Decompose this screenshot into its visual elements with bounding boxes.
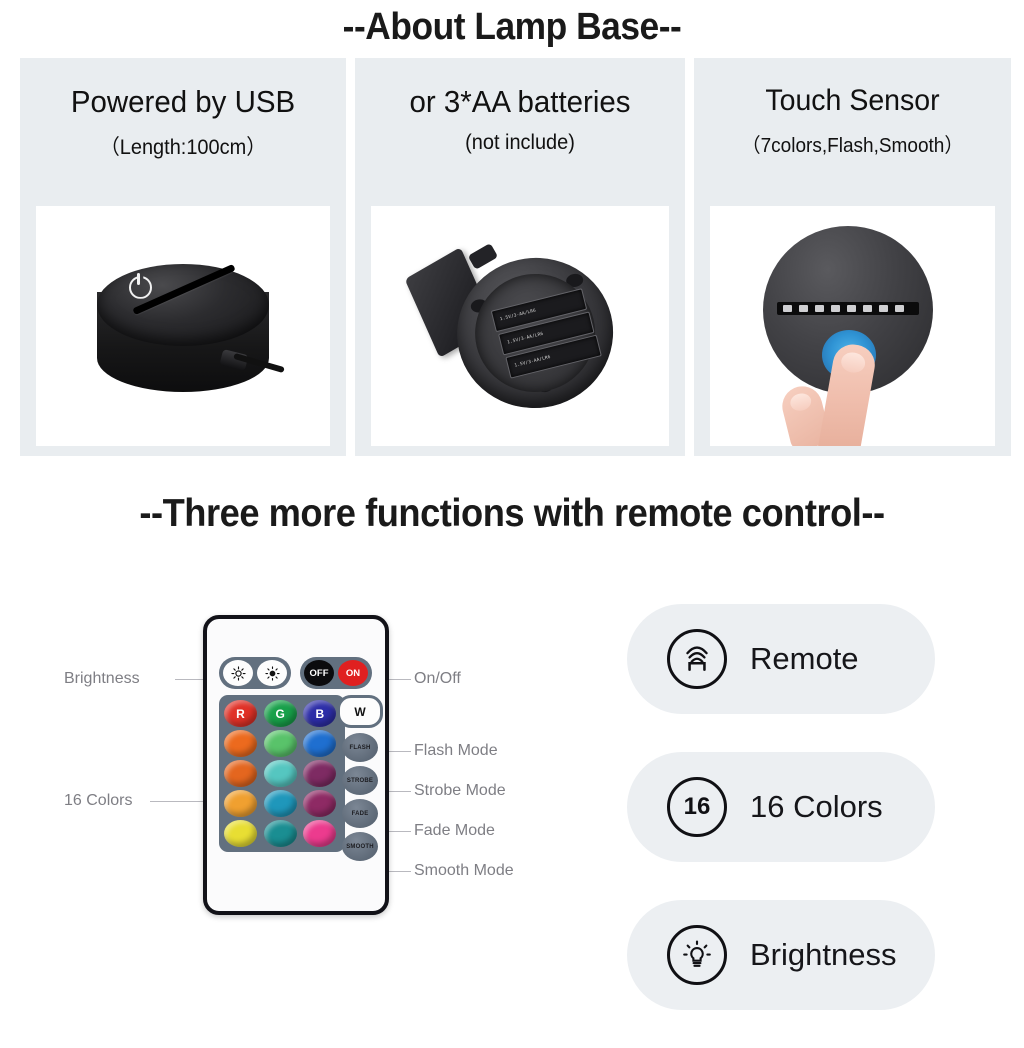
panel-title: Powered by USB (28, 84, 338, 120)
color-button-orange[interactable] (224, 730, 257, 757)
leader-line-on-off (389, 679, 411, 680)
brightness-bulb-glyph (680, 938, 714, 972)
callout-flash-mode: Flash Mode (414, 742, 498, 760)
color-button-blue[interactable]: B (303, 700, 336, 727)
page-title-about-lamp-base: --About Lamp Base-- (36, 6, 988, 49)
color-button-cyanblue[interactable] (264, 790, 297, 817)
panel-title: or 3*AA batteries (363, 84, 677, 120)
callout-smooth-mode: Smooth Mode (414, 862, 514, 880)
touch-base-illustration (763, 226, 943, 406)
led-chip (895, 305, 904, 312)
feature-label: Remote (750, 641, 859, 677)
feature-pill-list: Remote 16 16 Colors (627, 604, 937, 1048)
leader-line-16-colors (150, 801, 208, 802)
color-button-red[interactable]: R (224, 700, 257, 727)
lamp-base-usb-illustration (83, 256, 283, 406)
led-chip (847, 305, 856, 312)
leader-line-fade (389, 831, 411, 832)
brightness-up-icon (231, 666, 246, 681)
color-button-turquoise[interactable] (264, 760, 297, 787)
color-button-purple[interactable] (303, 760, 336, 787)
led-chip (863, 305, 872, 312)
battery-compartment-photo: 1.5V/3-AA/LR6 1.5V/3-AA/LR6 1.5V/3-AA/LR… (371, 206, 669, 446)
led-chip (799, 305, 808, 312)
feature-label: Brightness (750, 937, 896, 973)
panel-subtitle: （Length:100cm） (28, 131, 338, 161)
ir-remote-control[interactable]: OFF ON R G B (203, 615, 389, 915)
product-infographic: --About Lamp Base-- Powered by USB （Leng… (0, 0, 1024, 1024)
battery-bay: 1.5V/3-AA/LR6 1.5V/3-AA/LR6 1.5V/3-AA/LR… (467, 266, 602, 400)
base-underside-disc: 1.5V/3-AA/LR6 1.5V/3-AA/LR6 1.5V/3-AA/LR… (447, 248, 622, 418)
led-chip (879, 305, 888, 312)
color-button-darkorange[interactable] (224, 760, 257, 787)
color-button-lightgreen[interactable] (264, 730, 297, 757)
remote-top-row: OFF ON (219, 657, 381, 689)
battery-base-illustration: 1.5V/3-AA/LR6 1.5V/3-AA/LR6 1.5V/3-AA/LR… (410, 223, 629, 429)
color-button-teal[interactable] (264, 820, 297, 847)
feature-label: 16 Colors (750, 789, 883, 825)
sixteen-badge-text: 16 (684, 793, 711, 821)
color-button-green[interactable]: G (264, 700, 297, 727)
callout-16-colors: 16 Colors (64, 792, 132, 810)
mode-button-strobe[interactable]: STROBE (342, 766, 378, 795)
callout-on-off: On/Off (414, 670, 461, 688)
leader-line-strobe (389, 791, 411, 792)
thumb-nail (788, 392, 812, 414)
feature-pill-remote[interactable]: Remote (627, 604, 935, 714)
battery-cover-hinge (468, 243, 499, 270)
usb-lamp-base-photo (36, 206, 330, 446)
battery-slot-label: 1.5V/3-AA/LR6 (514, 355, 551, 369)
color-button-grid: R G B (219, 695, 345, 852)
led-chip (783, 305, 792, 312)
mode-button-column: W FLASH STROBE FADE SMOOTH (337, 695, 383, 861)
color-button-royalblue[interactable] (303, 730, 336, 757)
lamp-base-panels: Powered by USB （Length:100cm） or 3*AA ba… (0, 58, 1024, 456)
brightness-bulb-icon (667, 925, 727, 985)
color-button-pink[interactable] (303, 820, 336, 847)
panel-title: Touch Sensor (702, 84, 1003, 118)
mode-button-smooth[interactable]: SMOOTH (342, 832, 378, 861)
color-button-yellow[interactable] (224, 820, 257, 847)
battery-slot-label: 1.5V/3-AA/LR6 (500, 309, 537, 323)
touch-sensor-photo (710, 206, 995, 446)
brightness-down-button[interactable] (257, 660, 287, 686)
brightness-button-group (219, 657, 291, 689)
finger-nail (839, 351, 866, 375)
power-symbol-stem-icon (137, 273, 140, 285)
color-button-white[interactable]: W (337, 695, 383, 728)
led-strip (777, 302, 919, 315)
brightness-down-icon (265, 666, 280, 681)
mode-button-flash[interactable]: FLASH (342, 733, 378, 762)
callout-fade-mode: Fade Mode (414, 822, 495, 840)
mode-button-fade[interactable]: FADE (342, 799, 378, 828)
callout-brightness: Brightness (64, 670, 140, 688)
brightness-up-button[interactable] (223, 660, 253, 686)
leader-line-smooth (389, 871, 411, 872)
feature-pill-16-colors[interactable]: 16 16 Colors (627, 752, 935, 862)
remote-signal-icon (667, 629, 727, 689)
callout-strobe-mode: Strobe Mode (414, 782, 506, 800)
sixteen-circle-icon: 16 (667, 777, 727, 837)
leader-line-flash (389, 751, 411, 752)
feature-pill-brightness[interactable]: Brightness (627, 900, 935, 1010)
panel-powered-by-usb: Powered by USB （Length:100cm） (20, 58, 346, 456)
led-chip (831, 305, 840, 312)
panel-aa-batteries: or 3*AA batteries (not include) 1.5V/3-A… (355, 58, 685, 456)
power-on-button[interactable]: ON (338, 660, 368, 686)
remote-signal-glyph (680, 642, 714, 676)
color-button-magenta[interactable] (303, 790, 336, 817)
power-button-group: OFF ON (300, 657, 372, 689)
led-chip (815, 305, 824, 312)
panel-subtitle: (not include) (363, 131, 677, 155)
panel-touch-sensor: Touch Sensor （7colors,Flash,Smooth） (694, 58, 1011, 456)
base-top-disc (97, 264, 269, 346)
panel-subtitle: （7colors,Flash,Smooth） (702, 129, 1003, 158)
section-title-remote-functions: --Three more functions with remote contr… (36, 492, 988, 536)
power-off-button[interactable]: OFF (304, 660, 334, 686)
battery-slot-label: 1.5V/3-AA/LR6 (507, 332, 544, 346)
color-button-amber[interactable] (224, 790, 257, 817)
